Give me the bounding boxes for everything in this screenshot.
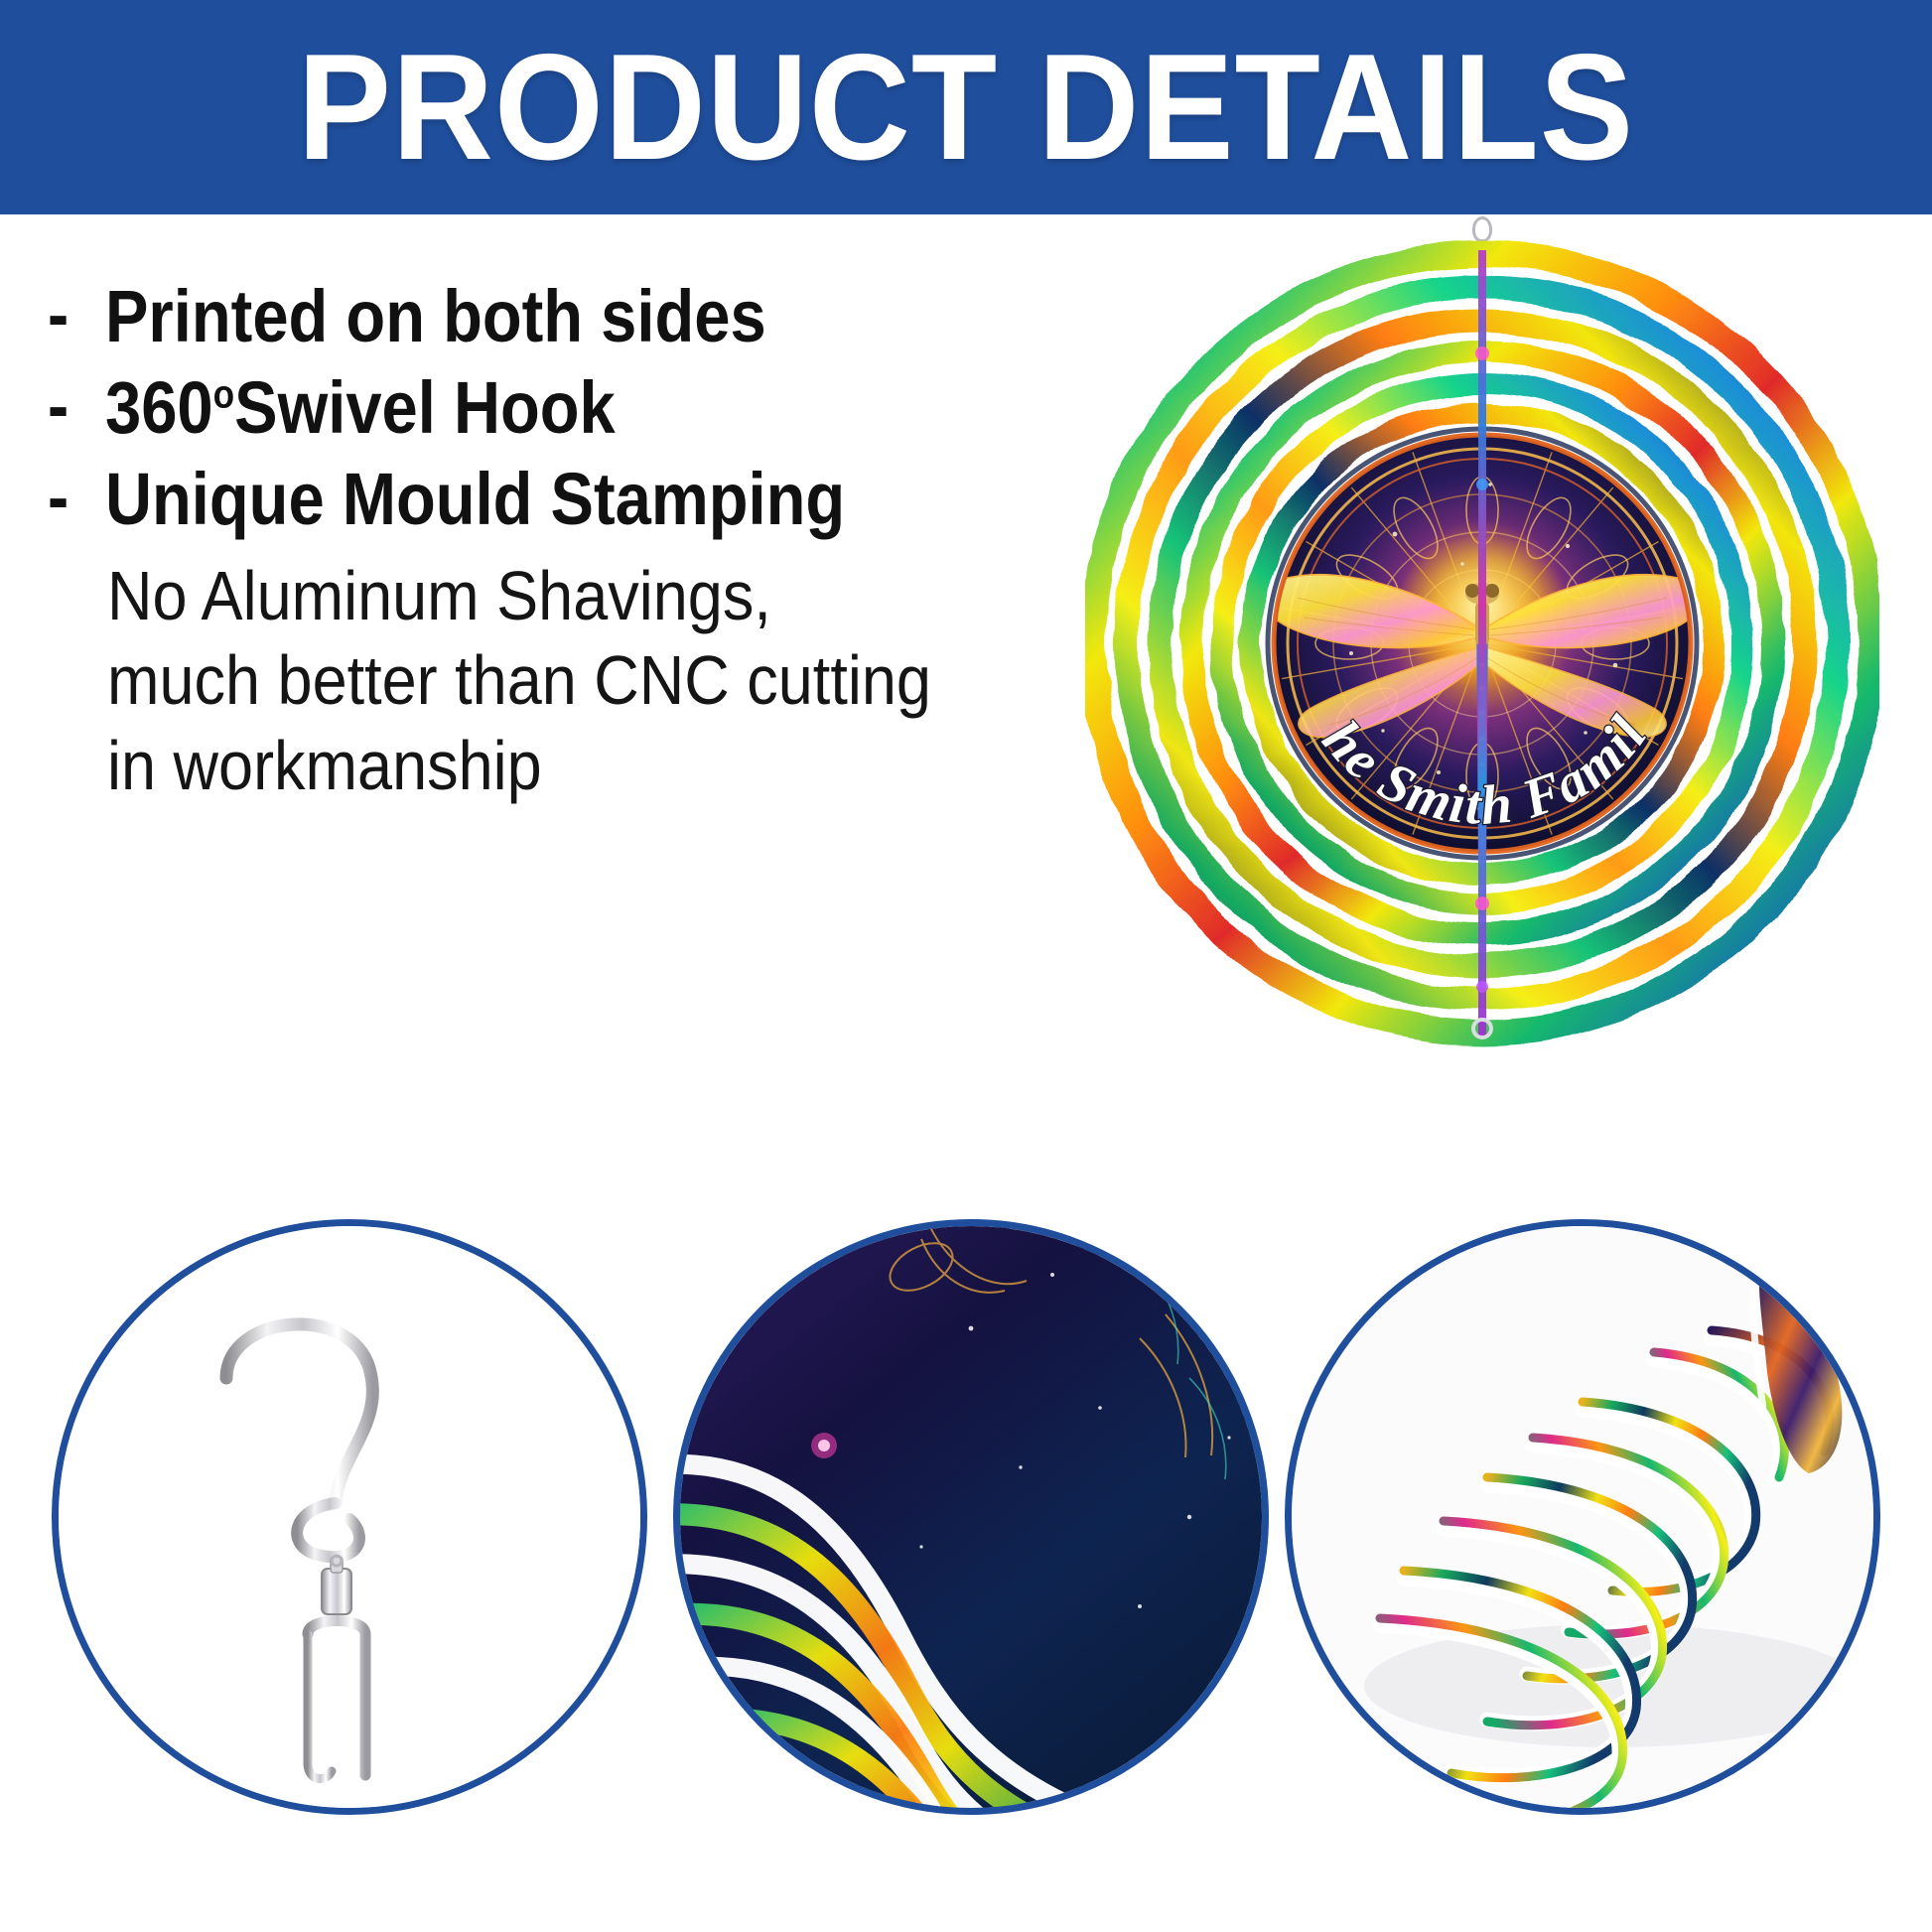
wind-spinner-graphic: The Smith Family (1085, 236, 1879, 1050)
product-image-wind-spinner: The Smith Family (1085, 214, 1879, 1058)
personalized-text-illustration: The Smith (673, 1219, 1269, 1815)
stamped-edge-illustration (1285, 1219, 1880, 1815)
feature-item-swivel-hook: - 360oSwivel Hook (48, 371, 1090, 445)
detail-photo-swivel-hook (52, 1219, 647, 1815)
personalized-name-crop: The Smith (673, 1219, 1177, 1245)
feature-sub-note: No Aluminum Shavings, much better than C… (107, 554, 938, 808)
product-details-infographic: PRODUCT DETAILS - Printed on both sides … (0, 0, 1932, 1932)
feature-label: 360oSwivel Hook (105, 371, 616, 445)
bullet-dash-icon: - (48, 371, 97, 441)
page-title: PRODUCT DETAILS (298, 32, 1634, 183)
feature-label-number: 360 (105, 366, 213, 449)
feature-item-printed-both-sides: - Printed on both sides (48, 280, 1090, 353)
feature-label-rest: Swivel Hook (234, 366, 616, 449)
swivel-hook-illustration (52, 1219, 647, 1815)
feature-list: - Printed on both sides - 360oSwivel Hoo… (48, 280, 1090, 808)
header-banner: PRODUCT DETAILS (0, 0, 1932, 214)
degree-symbol-icon: o (213, 372, 235, 416)
bullet-dash-icon: - (48, 463, 97, 532)
feature-label: Unique Mould Stamping (105, 463, 845, 536)
detail-photo-stamped-edge (1285, 1219, 1880, 1815)
feature-item-mould-stamping: - Unique Mould Stamping (48, 463, 1090, 536)
feature-label: Printed on both sides (105, 280, 766, 353)
bullet-dash-icon: - (48, 280, 97, 349)
detail-photo-personalized-text: The Smith (673, 1219, 1269, 1815)
